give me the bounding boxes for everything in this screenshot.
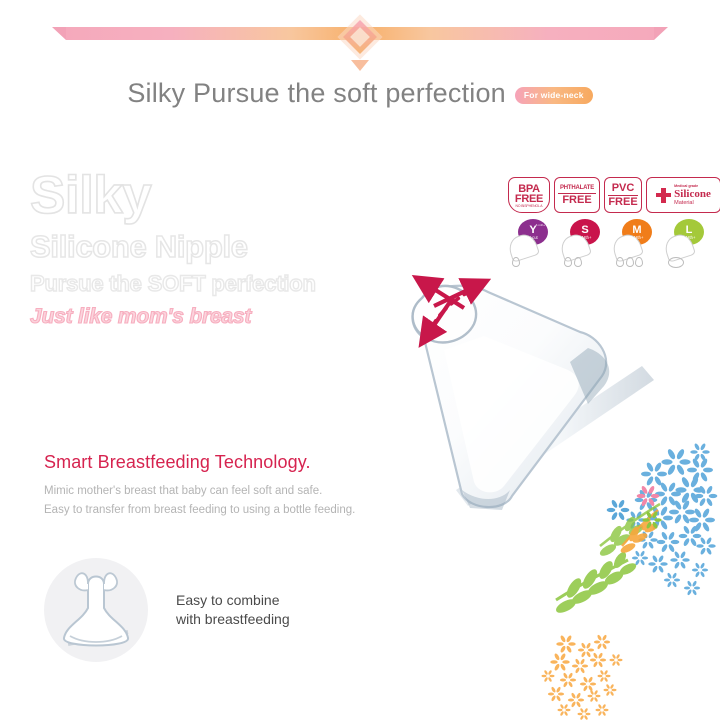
size-y-tiny: 6 mth+ [536, 223, 545, 227]
cert-bpa-line1: BPA [518, 184, 540, 194]
cert-medical-silicone-icon: Medical grade Silicone Material [646, 177, 720, 213]
size-y-sub: Y-cut [528, 235, 537, 240]
size-l-label: L [686, 225, 693, 235]
cert-pvc-free-icon: PVC FREE [604, 177, 642, 213]
cert-silicone-line2: Silicone [674, 189, 711, 200]
hero-line-product: Silicone Nipple [30, 228, 450, 265]
smart-technology-section: Smart Breastfeeding Technology. Mimic mo… [44, 452, 454, 519]
heading-row: Silky Pursue the soft perfectionFor wide… [0, 78, 720, 109]
red-cross-icon [656, 188, 671, 203]
top-decorative-divider [0, 16, 720, 64]
cert-bpa-line2: FREE [515, 194, 543, 204]
wide-neck-badge: For wide-neck [515, 87, 593, 104]
hero-text-block: Silky Silicone Nipple Pursue the SOFT pe… [30, 170, 450, 330]
page-title: Silky Pursue the soft perfection [127, 78, 506, 109]
hero-line-mom: Just like mom's breast [30, 304, 450, 330]
cert-phthalate-free-icon: PHTHALATE FREE [554, 177, 600, 213]
size-m-label: M [632, 225, 641, 235]
green-fern-left [554, 550, 638, 616]
size-m-sub: 3 Mth+ [631, 235, 644, 240]
feature-caption: Easy to combine with breastfeeding [176, 591, 290, 629]
smart-body-line1: Mimic mother's breast that baby can feel… [44, 482, 454, 500]
feature-easy-combine: Easy to combine with breastfeeding [44, 558, 290, 662]
feature-caption-line1: Easy to combine [176, 591, 290, 610]
feature-caption-line2: with breastfeeding [176, 610, 290, 629]
cert-pvc-line1: PVC [608, 182, 638, 196]
smart-title: Smart Breastfeeding Technology. [44, 452, 454, 473]
certification-badges: BPA FREE NO BISPHENOL A PHTHALATE FREE P… [508, 177, 720, 213]
cert-phthalate-line2: FREE [562, 194, 591, 207]
size-l-sub: 6 Mth+ [683, 235, 696, 240]
orange-flower-cluster [542, 634, 623, 720]
cert-bpa-free-icon: BPA FREE NO BISPHENOL A [508, 177, 550, 213]
cert-silicone-line3: Material [674, 200, 694, 207]
smart-body-line2: Easy to transfer from breast feeding to … [44, 501, 454, 519]
hero-line-tagline: Pursue the SOFT perfection [30, 270, 450, 298]
feature-thumbnail [44, 558, 148, 662]
divider-left-cap [52, 27, 66, 40]
cert-pvc-line2: FREE [608, 196, 637, 209]
product-banner: Silky Pursue the soft perfectionFor wide… [0, 0, 720, 720]
size-s-label: S [581, 225, 588, 235]
diamond-ornament-tip [351, 60, 369, 71]
divider-right-cap [654, 27, 668, 40]
size-y-label: Y [529, 225, 536, 235]
hero-line-silky: Silky [30, 170, 450, 222]
cert-bpa-line3: NO BISPHENOL A [516, 204, 543, 208]
size-s-sub: 0 Mth+ [579, 235, 592, 240]
cert-phthalate-line1: PHTHALATE [558, 184, 596, 194]
